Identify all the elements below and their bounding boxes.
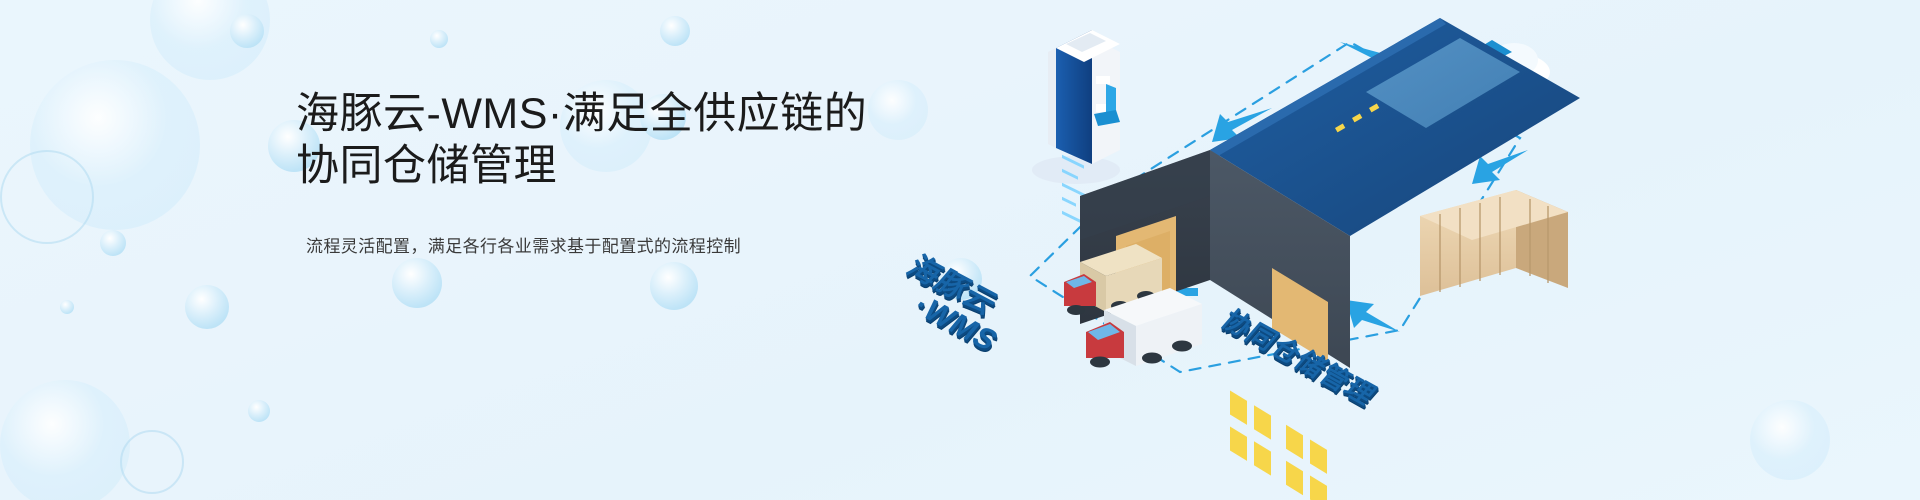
- flow-arrow: [1346, 300, 1400, 332]
- bokeh-circle: [1750, 400, 1830, 480]
- warehouse-windows: [1230, 390, 1327, 500]
- shipping-container: [1420, 190, 1568, 296]
- bokeh-circle: [650, 262, 698, 310]
- bokeh-circle: [120, 430, 184, 494]
- bokeh-circle: [60, 300, 74, 314]
- bokeh-circle: [248, 400, 270, 422]
- page-title: 海豚云-WMS·满足全供应链的 协同仓储管理: [296, 88, 936, 192]
- bokeh-circle: [185, 285, 229, 329]
- bokeh-circle: [230, 14, 264, 48]
- bokeh-circle: [392, 258, 442, 308]
- page-subtitle: 流程灵活配置，满足各行各业需求基于配置式的流程控制: [306, 234, 936, 260]
- bokeh-circle: [150, 0, 270, 80]
- bokeh-circle: [430, 30, 448, 48]
- bokeh-circle: [660, 16, 690, 46]
- bokeh-circle: [0, 380, 130, 500]
- bokeh-circle: [0, 150, 94, 244]
- hero-copy: 海豚云-WMS·满足全供应链的 协同仓储管理 流程灵活配置，满足各行各业需求基于…: [296, 88, 936, 260]
- warehouse-illustration: [880, 0, 1580, 500]
- bokeh-circle: [100, 230, 126, 256]
- bokeh-circle: [30, 60, 200, 230]
- hero-banner: 海豚云-WMS·满足全供应链的 协同仓储管理 流程灵活配置，满足各行各业需求基于…: [0, 0, 1920, 500]
